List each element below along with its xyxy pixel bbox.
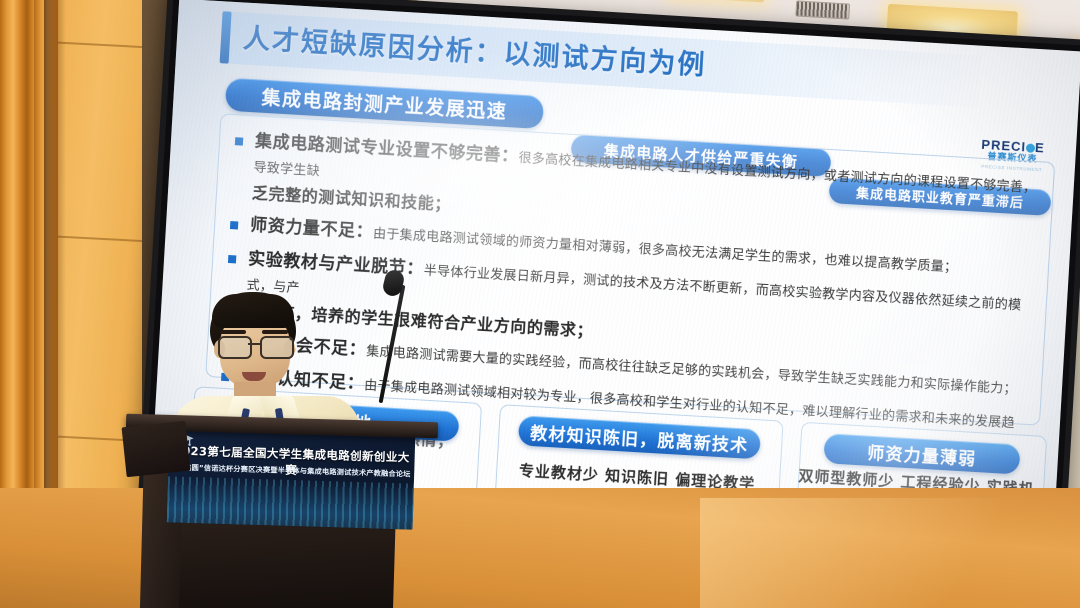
ceiling-light: [668, 0, 765, 2]
lens-right: [260, 336, 294, 359]
bullet-square-icon: [230, 221, 238, 229]
podium-body: [179, 519, 396, 608]
ceiling-vent-icon: [795, 0, 850, 19]
podium-shelf: [122, 421, 191, 477]
podium-banner: 2023第七届全国大学生集成电路创新创业大赛 “源鑫圆”信诺达杯分赛区决赛暨半导…: [167, 426, 416, 529]
podium: 2023第七届全国大学生集成电路创新创业大赛 “源鑫圆”信诺达杯分赛区决赛暨半导…: [128, 418, 434, 608]
bullet-square-icon: [228, 255, 236, 263]
logo-wordmark-right: E: [1035, 140, 1046, 156]
glasses-icon: [216, 336, 294, 356]
hair-fringe: [212, 294, 294, 328]
floor-reflection: [700, 498, 1080, 608]
bullet-square-icon: [235, 137, 243, 145]
eyebrow-right: [262, 330, 288, 334]
lens-left: [218, 336, 252, 359]
conference-photo-scene: 人才短缺原因分析：以测试方向为例 PRECIE 普赛斯仪表 PRECISE IN…: [0, 0, 1080, 608]
eyebrow-left: [220, 330, 246, 334]
bullet-lead: 师资力量不足：: [250, 215, 374, 242]
podium-skyline-graphic: [167, 476, 414, 529]
